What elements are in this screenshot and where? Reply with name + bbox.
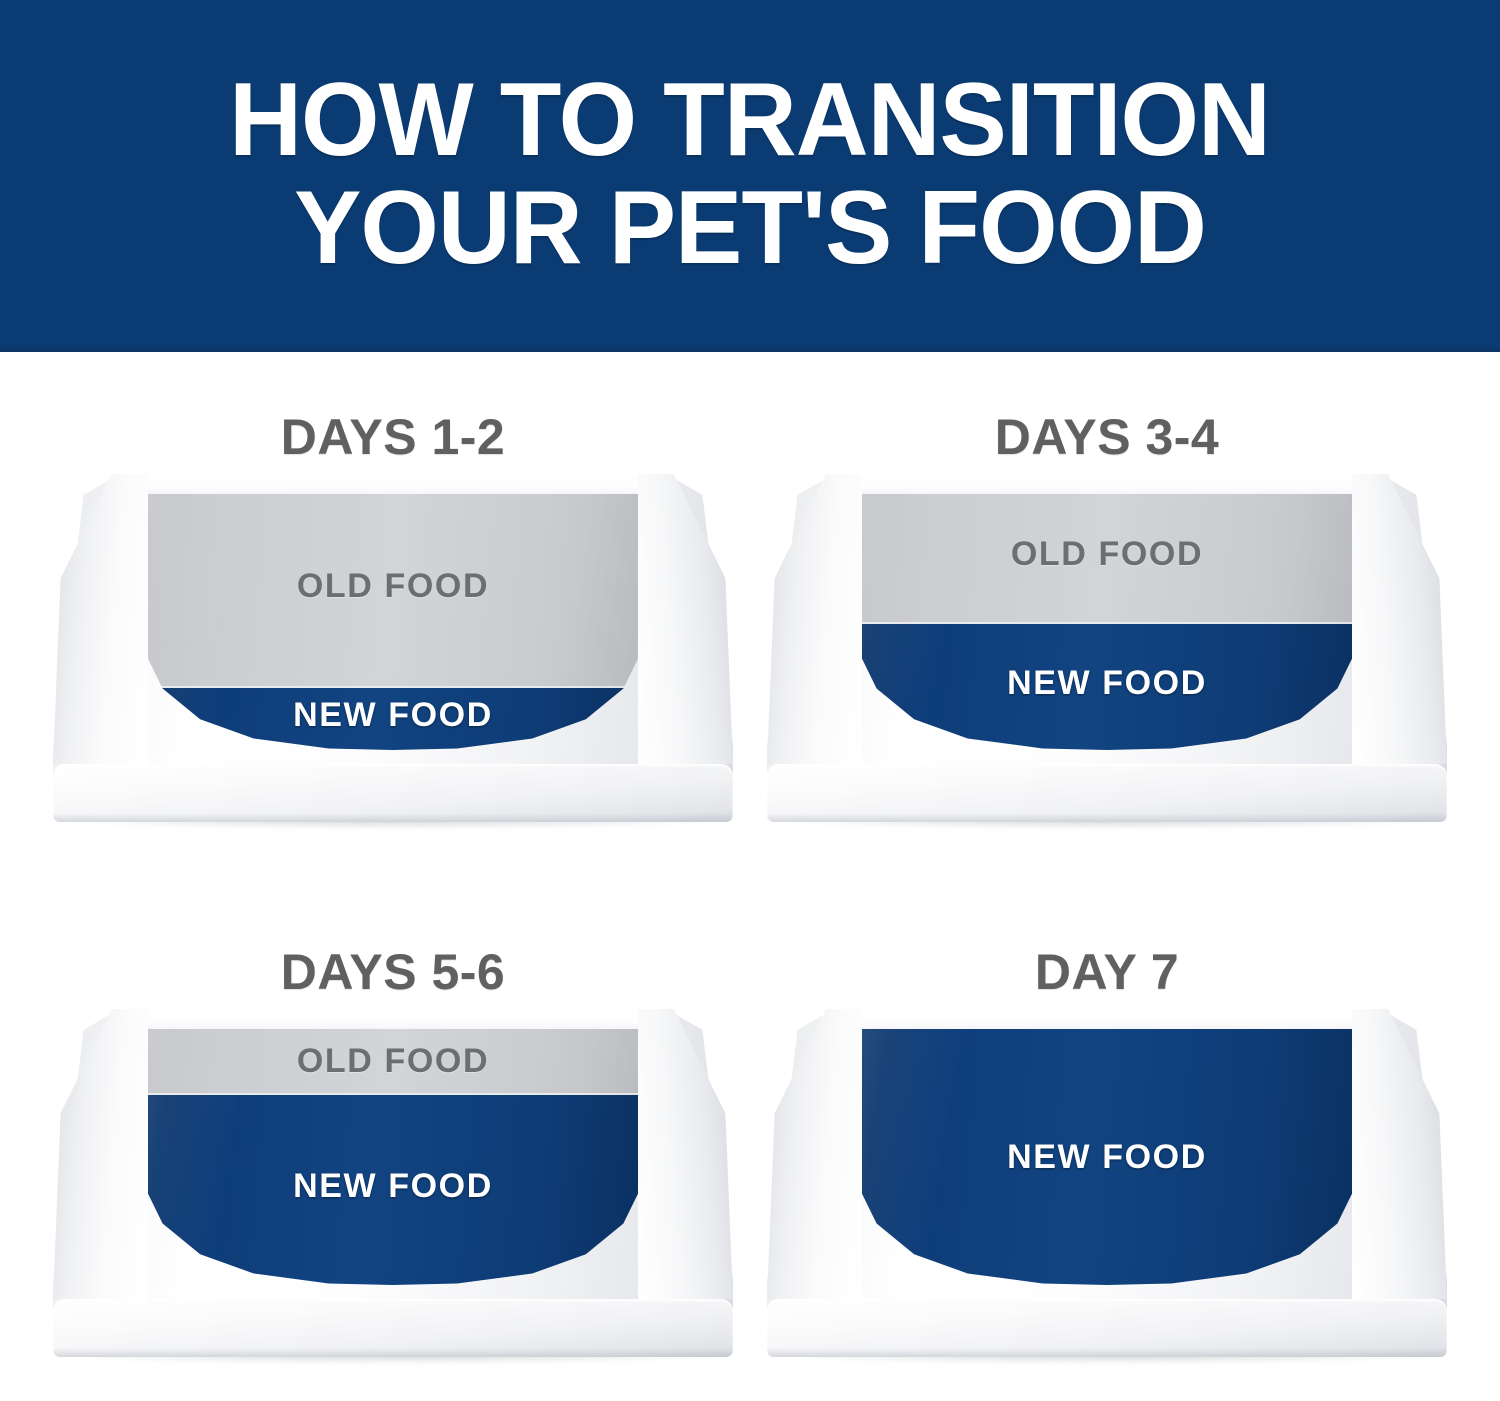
bowl-rim-0 bbox=[118, 474, 667, 496]
bowl-rim-2 bbox=[118, 1009, 667, 1031]
bowl-base-1 bbox=[767, 764, 1447, 822]
day-label-0: DAYS 1-2 bbox=[38, 412, 748, 474]
new-food-label-1: NEW FOOD bbox=[1007, 666, 1207, 700]
old-food-label-2: OLD FOOD bbox=[297, 1044, 489, 1078]
bowl-base-3 bbox=[767, 1299, 1447, 1357]
day-label-1: DAYS 3-4 bbox=[752, 412, 1462, 474]
old-food-fill-1: OLD FOOD bbox=[839, 494, 1375, 622]
bowl-panel-day-7: DAY 7 NEW FOOD bbox=[752, 947, 1462, 1401]
bowl-base-2 bbox=[53, 1299, 733, 1357]
new-food-fill-3: NEW FOOD bbox=[839, 1029, 1375, 1285]
new-food-label-2: NEW FOOD bbox=[293, 1169, 493, 1203]
day-label-3: DAY 7 bbox=[752, 947, 1462, 1009]
old-food-label-0: OLD FOOD bbox=[297, 569, 489, 603]
bowl-cavity-3: NEW FOOD bbox=[839, 1029, 1375, 1285]
bowl-rim-1 bbox=[832, 474, 1381, 496]
bowl-cavity-0: OLD FOOD NEW FOOD bbox=[125, 494, 661, 750]
food-bowl-3: NEW FOOD bbox=[767, 1009, 1447, 1357]
bowl-panel-days-3-4: DAYS 3-4 OLD FOOD NEW FOOD bbox=[752, 412, 1462, 912]
page-title-line-1: HOW TO TRANSITION bbox=[230, 67, 1271, 173]
food-bowl-2: OLD FOOD NEW FOOD bbox=[53, 1009, 733, 1357]
bowls-grid: DAYS 1-2 OLD FOOD NEW FOOD bbox=[0, 352, 1500, 1401]
infographic-page: HOW TO TRANSITION YOUR PET'S FOOD DAYS 1… bbox=[0, 0, 1500, 1401]
new-food-label-3: NEW FOOD bbox=[1007, 1140, 1207, 1174]
old-food-fill-2: OLD FOOD bbox=[125, 1029, 661, 1093]
old-food-label-1: OLD FOOD bbox=[1011, 537, 1203, 571]
new-food-label-0: NEW FOOD bbox=[293, 698, 493, 732]
old-food-fill-0: OLD FOOD bbox=[125, 494, 661, 686]
bowl-panel-days-1-2: DAYS 1-2 OLD FOOD NEW FOOD bbox=[38, 412, 748, 912]
food-bowl-0: OLD FOOD NEW FOOD bbox=[53, 474, 733, 822]
day-label-2: DAYS 5-6 bbox=[38, 947, 748, 1009]
bowl-panel-days-5-6: DAYS 5-6 OLD FOOD NEW FOOD bbox=[38, 947, 748, 1401]
food-bowl-1: OLD FOOD NEW FOOD bbox=[767, 474, 1447, 822]
header-banner: HOW TO TRANSITION YOUR PET'S FOOD bbox=[0, 0, 1500, 352]
bowl-cavity-1: OLD FOOD NEW FOOD bbox=[839, 494, 1375, 750]
new-food-fill-2: NEW FOOD bbox=[125, 1093, 661, 1285]
bowl-rim-3 bbox=[832, 1009, 1381, 1031]
bowl-base-0 bbox=[53, 764, 733, 822]
bowl-cavity-2: OLD FOOD NEW FOOD bbox=[125, 1029, 661, 1285]
page-title-line-2: YOUR PET'S FOOD bbox=[294, 175, 1206, 281]
